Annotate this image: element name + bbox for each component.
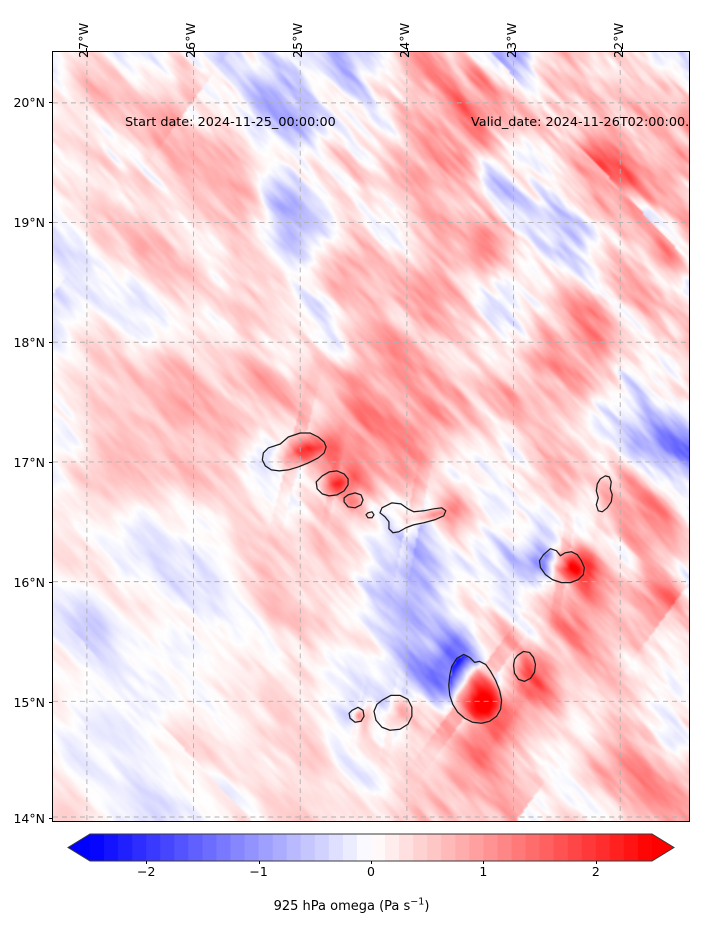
colorbar-step: [427, 834, 442, 861]
colorbar-tick-label: 1: [479, 864, 487, 879]
lon-tick-label: 26°W: [183, 23, 198, 58]
map-plot-area[interactable]: Start date: 2024-11-25_00:00:00 Valid_da…: [52, 51, 690, 822]
lat-tick-mark: [49, 462, 53, 463]
colorbar-label-prefix: 925 hPa omega (Pa s: [274, 899, 411, 914]
figure-root: Start date: 2024-11-25_00:00:00 Valid_da…: [0, 0, 703, 936]
valid-date-annotation: Valid_date: 2024-11-26T02:00:00.00: [471, 115, 690, 130]
colorbar-step: [385, 834, 400, 861]
colorbar-tick-label: 0: [367, 864, 375, 879]
colorbar-step: [160, 834, 175, 861]
colorbar-step: [526, 834, 541, 861]
colorbar-step: [132, 834, 147, 861]
colorbar-tick-label: −2: [137, 864, 155, 879]
colorbar-tick-label: −1: [249, 864, 267, 879]
colorbar-step: [329, 834, 344, 861]
lat-tick-label: 19°N: [0, 215, 45, 230]
lat-tick-label: 18°N: [0, 335, 45, 350]
colorbar-step: [624, 834, 639, 861]
colorbar-step: [188, 834, 203, 861]
colorbar-step: [371, 834, 386, 861]
lat-tick-label: 16°N: [0, 575, 45, 590]
colorbar-step: [343, 834, 358, 861]
colorbar-step: [273, 834, 288, 861]
colorbar-step: [216, 834, 231, 861]
lon-tick-label: 22°W: [611, 23, 626, 58]
colorbar-axis-label: 925 hPa omega (Pa s−1): [0, 899, 703, 914]
colorbar-step: [582, 834, 597, 861]
colorbar-step: [469, 834, 484, 861]
island-outline: [262, 433, 326, 471]
island-outline: [349, 707, 364, 722]
lat-tick-label: 17°N: [0, 455, 45, 470]
start-date-annotation: Start date: 2024-11-25_00:00:00: [125, 115, 336, 130]
colorbar-gradient: [68, 834, 674, 861]
lon-tick-label: 27°W: [76, 23, 91, 58]
colorbar-step: [554, 834, 569, 861]
colorbar-step: [441, 834, 456, 861]
colorbar-step: [104, 834, 119, 861]
island-outline: [596, 476, 612, 512]
colorbar-step: [497, 834, 512, 861]
island-outline: [344, 493, 363, 508]
colorbar-step: [512, 834, 527, 861]
colorbar-label-suffix: ): [424, 899, 429, 914]
colorbar-step: [315, 834, 330, 861]
colorbar-step: [231, 834, 246, 861]
island-outline: [380, 503, 446, 533]
lat-tick-mark: [49, 222, 53, 223]
lat-tick-label: 20°N: [0, 95, 45, 110]
lon-tick-label: 24°W: [397, 23, 412, 58]
lon-tick-label: 25°W: [290, 23, 305, 58]
colorbar[interactable]: [68, 834, 674, 861]
colorbar-step: [483, 834, 498, 861]
colorbar-step: [174, 834, 189, 861]
gridlines: [53, 52, 689, 821]
colorbar-label-exponent: −1: [410, 897, 424, 908]
lat-tick-mark: [49, 342, 53, 343]
island-outline: [514, 651, 536, 681]
island-outline: [374, 695, 412, 730]
colorbar-step: [455, 834, 470, 861]
colorbar-extend-min: [68, 834, 90, 861]
lat-tick-mark: [49, 102, 53, 103]
island-outline: [316, 471, 348, 496]
lat-tick-mark: [49, 702, 53, 703]
lat-tick-mark: [49, 582, 53, 583]
colorbar-step: [146, 834, 161, 861]
lat-tick-label: 14°N: [0, 811, 45, 826]
colorbar-step: [399, 834, 414, 861]
lat-tick-mark: [49, 818, 53, 819]
island-outline: [539, 549, 584, 583]
lon-tick-label: 23°W: [504, 23, 519, 58]
island-outline: [449, 654, 502, 723]
colorbar-step: [596, 834, 611, 861]
colorbar-step: [287, 834, 302, 861]
colorbar-step: [301, 834, 316, 861]
colorbar-step: [568, 834, 583, 861]
colorbar-step: [610, 834, 625, 861]
colorbar-step: [90, 834, 105, 861]
colorbar-step: [413, 834, 428, 861]
colorbar-step: [118, 834, 133, 861]
colorbar-tick-label: 2: [592, 864, 600, 879]
island-outline: [366, 512, 374, 518]
lat-tick-label: 15°N: [0, 695, 45, 710]
colorbar-step: [245, 834, 260, 861]
colorbar-extend-max: [652, 834, 674, 861]
colorbar-step: [202, 834, 217, 861]
colorbar-step: [357, 834, 372, 861]
colorbar-step: [540, 834, 555, 861]
map-overlay: [53, 52, 689, 821]
colorbar-step: [638, 834, 653, 861]
colorbar-step: [259, 834, 274, 861]
